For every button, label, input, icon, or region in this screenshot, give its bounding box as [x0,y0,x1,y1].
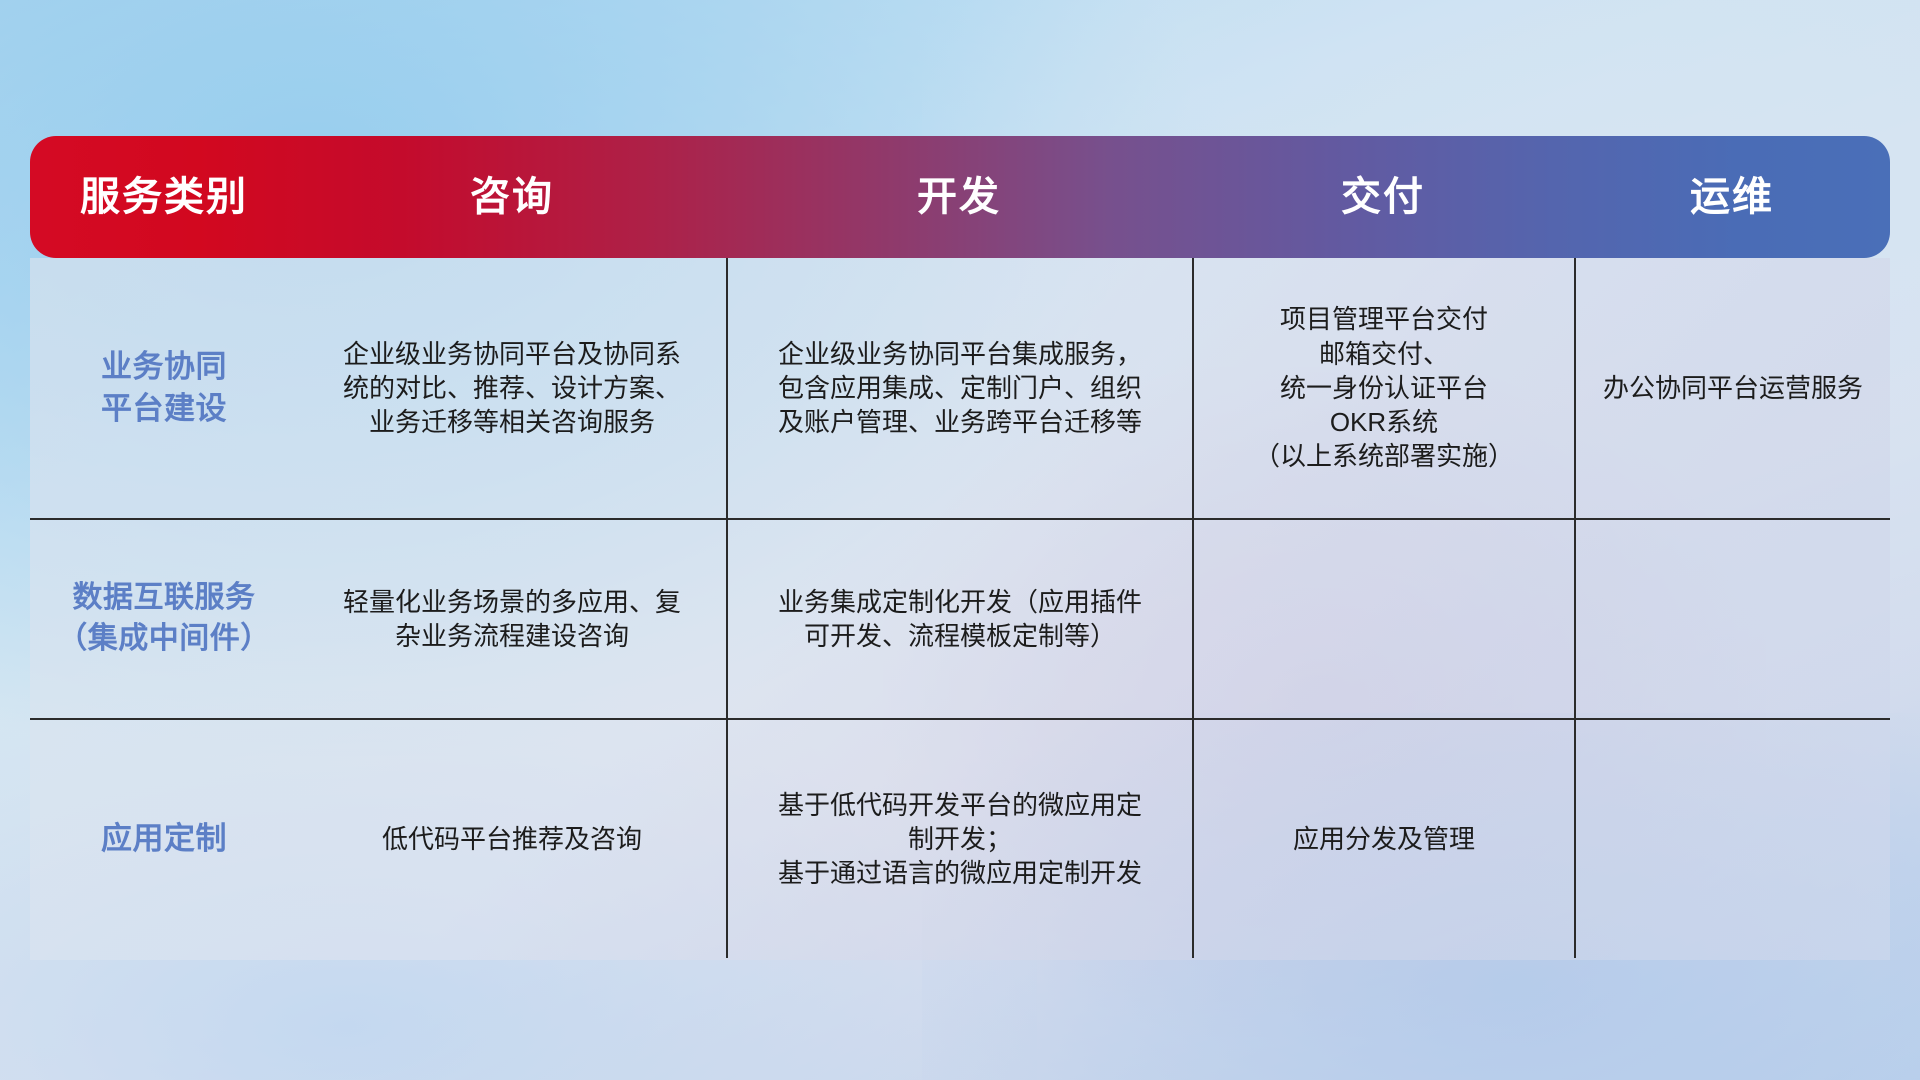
cell-development: 基于低代码开发平台的微应用定 制开发； 基于通过语言的微应用定制开发 [726,720,1192,958]
column-header-delivery: 交付 [1192,177,1574,217]
cell-delivery [1192,520,1574,718]
cell-development: 业务集成定制化开发（应用插件 可开发、流程模板定制等） [726,520,1192,718]
table-body: 业务协同 平台建设 企业级业务协同平台及协同系 统的对比、推荐、设计方案、 业务… [30,258,1890,960]
cell-operations [1574,720,1890,958]
service-matrix-table: 服务类别 咨询 开发 交付 运维 业务协同 平台建设 企业级业务协同平台及协同系… [30,136,1890,960]
row-category-label: 数据互联服务 （集成中间件） [30,520,298,718]
table-row: 应用定制 低代码平台推荐及咨询 基于低代码开发平台的微应用定 制开发； 基于通过… [30,720,1890,958]
column-header-operations: 运维 [1574,177,1890,217]
table-row: 业务协同 平台建设 企业级业务协同平台及协同系 统的对比、推荐、设计方案、 业务… [30,258,1890,520]
cell-delivery: 项目管理平台交付 邮箱交付、 统一身份认证平台 OKR系统 （以上系统部署实施） [1192,258,1574,518]
table-header-bar: 服务类别 咨询 开发 交付 运维 [30,136,1890,258]
column-header-development: 开发 [726,177,1192,217]
column-header-service-category: 服务类别 [30,177,298,217]
cell-delivery: 应用分发及管理 [1192,720,1574,958]
cell-consulting: 企业级业务协同平台及协同系 统的对比、推荐、设计方案、 业务迁移等相关咨询服务 [298,258,726,518]
cell-development: 企业级业务协同平台集成服务， 包含应用集成、定制门户、组织 及账户管理、业务跨平… [726,258,1192,518]
cell-operations [1574,520,1890,718]
row-category-label: 应用定制 [30,720,298,958]
row-category-label: 业务协同 平台建设 [30,258,298,518]
table-row: 数据互联服务 （集成中间件） 轻量化业务场景的多应用、复 杂业务流程建设咨询 业… [30,520,1890,720]
category-text: 业务协同 平台建设 [101,346,227,430]
cell-consulting: 低代码平台推荐及咨询 [298,720,726,958]
cell-consulting: 轻量化业务场景的多应用、复 杂业务流程建设咨询 [298,520,726,718]
category-text: 数据互联服务 （集成中间件） [57,578,271,660]
cell-operations: 办公协同平台运营服务 [1574,258,1890,518]
category-text: 应用定制 [101,818,227,860]
column-header-consulting: 咨询 [298,177,726,217]
